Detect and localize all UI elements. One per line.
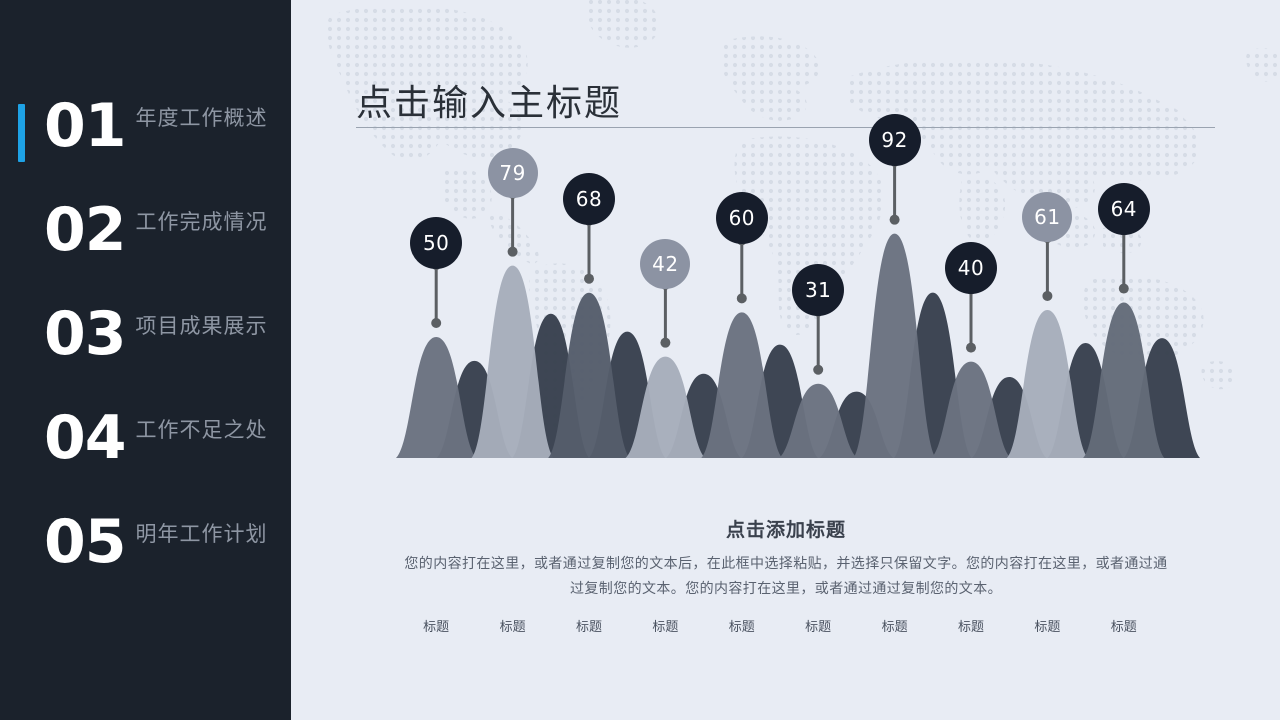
sidebar-item-number: 01 bbox=[44, 96, 126, 156]
slide: 01 年度工作概述 02 工作完成情况 bbox=[0, 0, 1280, 720]
bubble-stem-dot bbox=[813, 365, 823, 375]
x-axis-label: 标题 bbox=[576, 616, 602, 635]
value-bubble: 31 bbox=[792, 264, 844, 316]
sidebar-item-2[interactable]: 02 工作完成情况 bbox=[0, 200, 291, 304]
bubble-stem-dot bbox=[890, 215, 900, 225]
active-accent-bar bbox=[18, 104, 25, 162]
sidebar-item-number: 03 bbox=[44, 304, 126, 364]
caption-block: 点击添加标题 您的内容打在这里，或者通过复制您的文本后，在此框中选择粘贴，并选择… bbox=[401, 515, 1171, 615]
bell-curve-chart: 50796842603192406164 标题标题标题标题标题标题标题标题标题标… bbox=[291, 150, 1280, 510]
sidebar-item-number: 04 bbox=[44, 408, 126, 468]
sidebar-item-right: 年度工作概述 bbox=[136, 96, 268, 132]
x-axis-label: 标题 bbox=[423, 616, 449, 635]
bubble-stem-dot bbox=[584, 274, 594, 284]
x-axis-label: 标题 bbox=[958, 616, 984, 635]
sidebar-item-right: 工作不足之处 bbox=[136, 408, 268, 444]
caption-title: 点击添加标题 bbox=[401, 515, 1171, 542]
x-axis-label: 标题 bbox=[1034, 616, 1060, 635]
x-axis-label: 标题 bbox=[882, 616, 908, 635]
value-bubble: 61 bbox=[1022, 192, 1072, 242]
x-axis-label: 标题 bbox=[500, 616, 526, 635]
bubble-stem-dot bbox=[431, 318, 441, 328]
sidebar-item-3[interactable]: 03 项目成果展示 bbox=[0, 304, 291, 408]
value-bubble: 92 bbox=[869, 114, 921, 166]
bubble-stem-dot bbox=[966, 343, 976, 353]
bubble-stem-dot bbox=[660, 338, 670, 348]
sidebar-item-label: 明年工作计划 bbox=[136, 523, 268, 546]
sidebar-item-4[interactable]: 04 工作不足之处 bbox=[0, 408, 291, 512]
sidebar: 01 年度工作概述 02 工作完成情况 bbox=[0, 0, 291, 720]
sidebar-item-number: 05 bbox=[44, 512, 126, 572]
sidebar-item-1[interactable]: 01 年度工作概述 bbox=[0, 96, 291, 200]
bubble-stem-dot bbox=[1119, 284, 1129, 294]
caption-body: 您的内容打在这里，或者通过复制您的文本后，在此框中选择粘贴，并选择只保留文字。您… bbox=[401, 551, 1171, 601]
bubble-stem-dot bbox=[737, 293, 747, 303]
value-bubble: 64 bbox=[1098, 183, 1150, 235]
main-content: 点击输入主标题 50796842603192406164 标题标题标题标题标题标… bbox=[291, 0, 1280, 720]
chart-x-axis-labels: 标题标题标题标题标题标题标题标题标题标题 bbox=[291, 616, 1280, 646]
x-axis-label: 标题 bbox=[652, 616, 678, 635]
sidebar-item-label: 年度工作概述 bbox=[136, 107, 268, 130]
bubble-stem-dot bbox=[1042, 291, 1052, 301]
sidebar-item-right: 项目成果展示 bbox=[136, 304, 268, 340]
value-bubble: 40 bbox=[945, 242, 997, 294]
value-bubble: 68 bbox=[563, 173, 615, 225]
sidebar-nav: 01 年度工作概述 02 工作完成情况 bbox=[0, 96, 291, 616]
sidebar-item-5[interactable]: 05 明年工作计划 bbox=[0, 512, 291, 616]
title-divider bbox=[356, 127, 1215, 128]
value-bubble: 60 bbox=[716, 192, 768, 244]
x-axis-label: 标题 bbox=[729, 616, 755, 635]
sidebar-item-label: 工作完成情况 bbox=[136, 211, 268, 234]
value-bubble: 79 bbox=[488, 148, 538, 198]
x-axis-label: 标题 bbox=[805, 616, 831, 635]
sidebar-item-label: 项目成果展示 bbox=[136, 315, 268, 338]
value-bubble: 42 bbox=[640, 239, 690, 289]
value-bubble: 50 bbox=[410, 217, 462, 269]
bubble-stem-dot bbox=[508, 247, 518, 257]
sidebar-item-right: 明年工作计划 bbox=[136, 512, 268, 548]
page-title: 点击输入主标题 bbox=[356, 74, 622, 126]
sidebar-item-right: 工作完成情况 bbox=[136, 200, 268, 236]
sidebar-item-label: 工作不足之处 bbox=[136, 419, 268, 442]
sidebar-item-number: 02 bbox=[44, 200, 126, 260]
x-axis-label: 标题 bbox=[1111, 616, 1137, 635]
